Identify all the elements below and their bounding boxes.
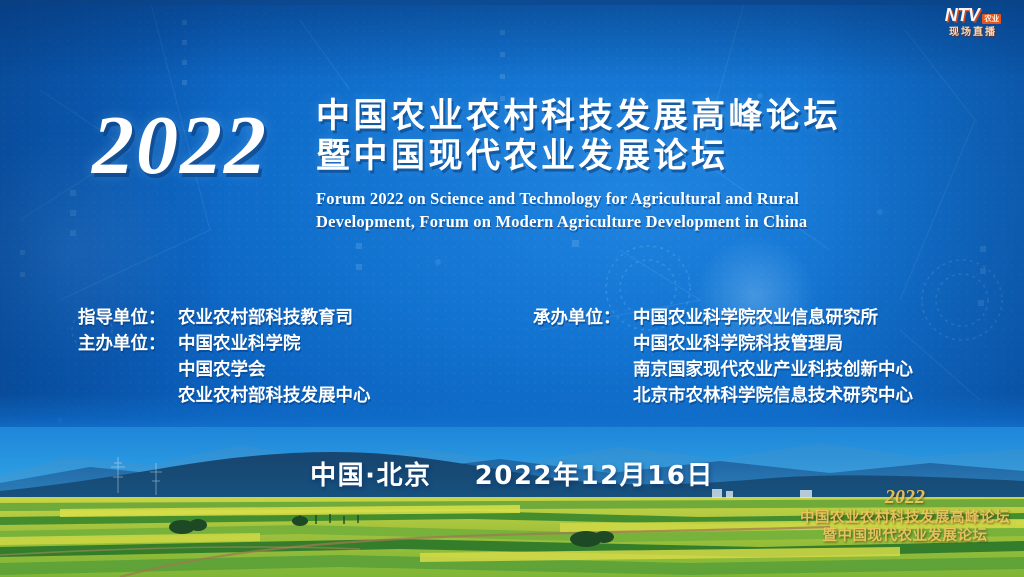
organizer-row: 承办单位： 南京国家现代农业产业科技创新中心	[533, 357, 913, 383]
organizer-label: 指导单位：	[78, 305, 178, 331]
channel-logo-text: NTV	[945, 6, 980, 24]
organizer-row: 承办单位： 中国农业科学院农业信息研究所	[533, 305, 913, 331]
title-en-line2: Development, Forum on Modern Agriculture…	[316, 210, 976, 233]
organizers-left: 指导单位： 农业农村部科技教育司 主办单位： 中国农业科学院 指导单位： 中国农…	[78, 305, 371, 409]
organizer-row: 主办单位： 中国农业科学院	[78, 331, 371, 357]
location-text: 中国·北京	[310, 461, 431, 491]
organizer-value: 中国农业科学院	[178, 331, 301, 357]
live-broadcast-bug: NTV 农业 现场直播	[934, 6, 1012, 38]
year-2022: 2022	[92, 104, 268, 188]
organizer-value: 中国农业科学院农业信息研究所	[633, 305, 878, 331]
organizer-label: 承办单位：	[533, 305, 633, 331]
live-label: 现场直播	[934, 28, 1012, 38]
title-cn-line2: 暨中国现代农业发展论坛	[316, 136, 976, 176]
organizer-row: 指导单位： 农业农村部科技教育司	[78, 305, 371, 331]
organizer-value: 农业农村部科技教育司	[178, 305, 353, 331]
organizer-value: 中国农业科学院科技管理局	[633, 331, 843, 357]
organizer-label: 主办单位：	[78, 331, 178, 357]
location-date-line: 中国·北京 2022年12月16日	[0, 455, 1024, 492]
organizer-value: 北京市农林科学院信息技术研究中心	[633, 383, 913, 409]
organizer-row: 承办单位： 北京市农林科学院信息技术研究中心	[533, 383, 913, 409]
top-edge-strip	[0, 0, 1024, 5]
title-cn-line1: 中国农业农村科技发展高峰论坛	[316, 96, 976, 136]
organizer-row: 指导单位： 农业农村部科技发展中心	[78, 383, 371, 409]
organizer-value: 农业农村部科技发展中心	[178, 383, 371, 409]
organizers-right: 承办单位： 中国农业科学院农业信息研究所 承办单位： 中国农业科学院科技管理局 …	[533, 305, 913, 409]
landscape-scenery	[0, 427, 1024, 577]
channel-logo-row: NTV 农业	[934, 6, 1012, 24]
broadcast-slide: 2022 中国农业农村科技发展高峰论坛 暨中国现代农业发展论坛 Forum 20…	[0, 0, 1024, 577]
channel-logo-cn: 农业	[982, 14, 1001, 24]
date-text: 2022年12月16日	[475, 461, 714, 491]
organizer-row: 指导单位： 中国农学会	[78, 357, 371, 383]
title-en-line1: Forum 2022 on Science and Technology for…	[316, 187, 976, 210]
organizer-row: 承办单位： 中国农业科学院科技管理局	[533, 331, 913, 357]
organizer-value: 南京国家现代农业产业科技创新中心	[633, 357, 913, 383]
organizer-value: 中国农学会	[178, 357, 266, 383]
title-block: 中国农业农村科技发展高峰论坛 暨中国现代农业发展论坛 Forum 2022 on…	[316, 96, 976, 233]
